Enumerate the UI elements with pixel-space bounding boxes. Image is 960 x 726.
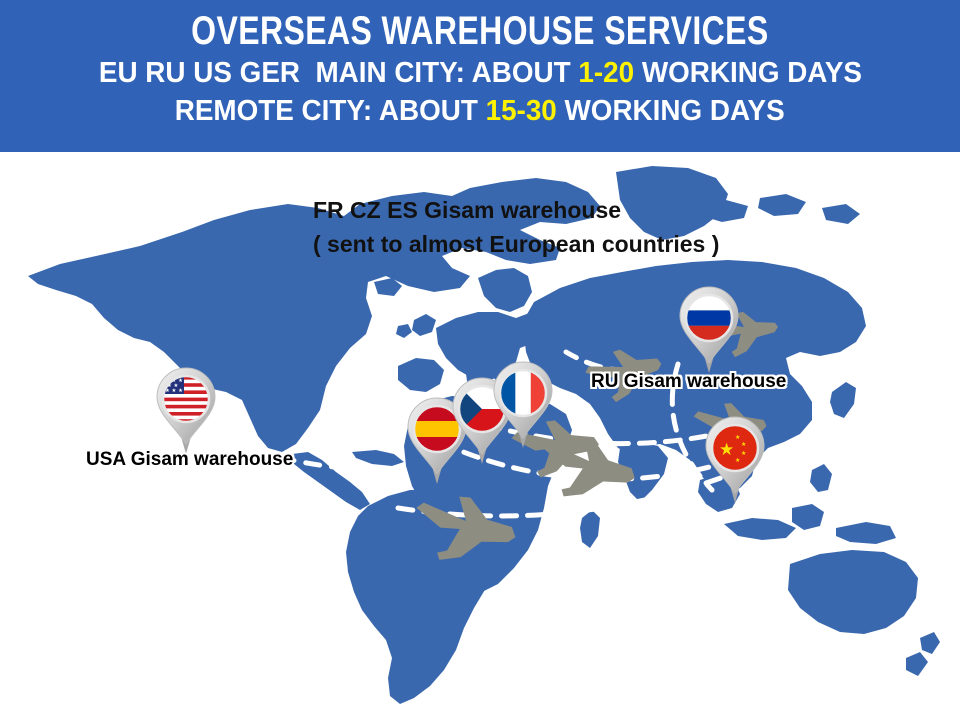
scandinavia-landmass bbox=[478, 268, 532, 312]
svg-text:★: ★ bbox=[719, 440, 734, 460]
borneo-landmass bbox=[792, 504, 824, 530]
map-pin-china[interactable]: ★ ★ ★ ★ ★ bbox=[701, 415, 769, 503]
banner-line2-highlight: 1-20 bbox=[578, 57, 634, 89]
british-isles-landmass bbox=[412, 314, 436, 336]
europe-warehouse-note-line2: ( sent to almost European countries ) bbox=[313, 227, 873, 261]
header-banner: OVERSEAS WAREHOUSE SERVICES EU RU US GER… bbox=[0, 0, 960, 152]
svg-text:★ ★ ★: ★ ★ ★ bbox=[165, 388, 183, 394]
svg-text:★: ★ bbox=[735, 434, 740, 441]
map-pin-russia[interactable] bbox=[675, 285, 743, 373]
svg-text:★: ★ bbox=[735, 457, 740, 464]
banner-line3-post: WORKING DAYS bbox=[557, 95, 785, 127]
central-america-landmass bbox=[292, 452, 370, 510]
banner-line2-post: WORKING DAYS bbox=[634, 57, 862, 89]
new-zealand-south-landmass bbox=[906, 652, 928, 676]
map-pin-france[interactable] bbox=[489, 360, 557, 448]
madagascar-landmass bbox=[580, 510, 600, 548]
banner-line-remote-city: REMOTE CITY: ABOUT 15-30 WORKING DAYS bbox=[175, 92, 785, 130]
label-usa-warehouse: USA Gisam warehouse bbox=[86, 449, 293, 471]
philippines-landmass bbox=[810, 464, 832, 492]
ireland-landmass bbox=[396, 324, 412, 338]
new-zealand-landmass bbox=[920, 632, 940, 654]
overseas-warehouse-infographic: OVERSEAS WAREHOUSE SERVICES EU RU US GER… bbox=[0, 0, 960, 726]
indonesia-islands bbox=[724, 518, 796, 540]
europe-warehouse-note-line1: FR CZ ES Gisam warehouse bbox=[313, 193, 873, 227]
australia-landmass bbox=[788, 550, 918, 634]
svg-text:★: ★ bbox=[741, 450, 746, 457]
banner-line-main-city: EU RU US GER MAIN CITY: ABOUT 1-20 WORKI… bbox=[98, 54, 861, 92]
caribbean-islands bbox=[352, 450, 404, 466]
banner-line3-pre: REMOTE CITY: ABOUT bbox=[175, 95, 486, 127]
map-pin-usa[interactable]: ★ ★ ★ ★ ★ ★ ★ ★ bbox=[152, 366, 220, 454]
banner-line3-highlight: 15-30 bbox=[486, 95, 557, 127]
label-ru-warehouse: RU Gisam warehouse bbox=[591, 371, 786, 393]
japan-landmass bbox=[830, 382, 856, 418]
iberia-landmass bbox=[398, 358, 444, 392]
europe-warehouse-note: FR CZ ES Gisam warehouse ( sent to almos… bbox=[313, 193, 873, 261]
new-guinea-landmass bbox=[836, 522, 896, 544]
svg-text:★: ★ bbox=[741, 441, 746, 448]
banner-line2-pre: EU RU US GER MAIN CITY: ABOUT bbox=[98, 57, 577, 89]
page-title: OVERSEAS WAREHOUSE SERVICES bbox=[191, 8, 768, 54]
